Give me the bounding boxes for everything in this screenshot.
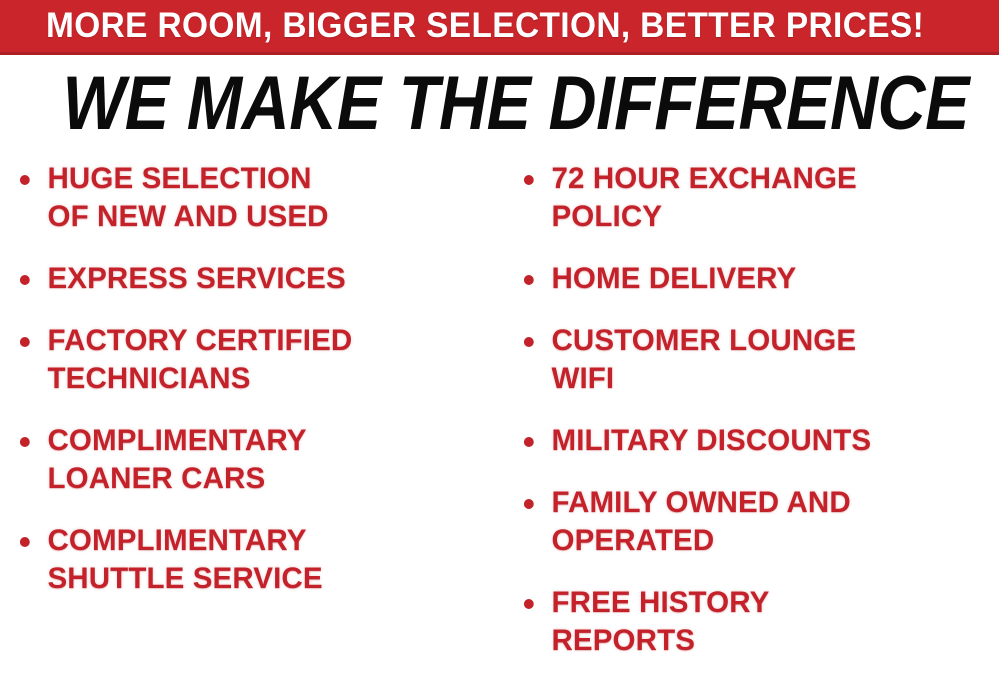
feature-label: 72 HOUR EXCHANGE POLICY (551, 160, 991, 236)
feature-label: COMPLIMENTARY SHUTTLE SERVICE (47, 522, 492, 598)
feature-item: COMPLIMENTARY LOANER CARS (14, 422, 493, 498)
features-section: HUGE SELECTION OF NEW AND USED EXPRESS S… (0, 160, 999, 692)
promo-strip: MORE ROOM, BIGGER SELECTION, BETTER PRIC… (0, 0, 999, 55)
feature-label: HOME DELIVERY (551, 260, 991, 298)
bullet-dot-icon (524, 175, 534, 185)
feature-item: MILITARY DISCOUNTS (518, 422, 992, 460)
feature-label: FAMILY OWNED AND OPERATED (551, 484, 991, 560)
feature-label: MILITARY DISCOUNTS (551, 422, 991, 460)
bullet-dot-icon (524, 437, 534, 447)
promo-strip-text: MORE ROOM, BIGGER SELECTION, BETTER PRIC… (46, 0, 924, 52)
feature-item: HOME DELIVERY (518, 260, 992, 298)
feature-label: COMPLIMENTARY LOANER CARS (47, 422, 492, 498)
feature-item: HUGE SELECTION OF NEW AND USED (14, 160, 493, 236)
feature-label: FREE HISTORY REPORTS (551, 584, 991, 660)
feature-label: FACTORY CERTIFIED TECHNICIANS (47, 322, 492, 398)
dealership-promo-banner: MORE ROOM, BIGGER SELECTION, BETTER PRIC… (0, 0, 999, 692)
bullet-dot-icon (20, 437, 30, 447)
feature-item: 72 HOUR EXCHANGE POLICY (518, 160, 992, 236)
bullet-dot-icon (524, 337, 534, 347)
feature-item: EXPRESS SERVICES (14, 260, 493, 298)
feature-label: HUGE SELECTION OF NEW AND USED (47, 160, 492, 236)
feature-item: COMPLIMENTARY SHUTTLE SERVICE (14, 522, 493, 598)
bullet-dot-icon (524, 275, 534, 285)
bullet-dot-icon (20, 337, 30, 347)
page-title: WE MAKE THE DIFFERENCE (62, 64, 936, 144)
features-column-left: HUGE SELECTION OF NEW AND USED EXPRESS S… (14, 160, 500, 598)
bullet-dot-icon (524, 599, 534, 609)
feature-item: FREE HISTORY REPORTS (518, 584, 992, 660)
feature-item: FACTORY CERTIFIED TECHNICIANS (14, 322, 493, 398)
bullet-dot-icon (524, 499, 534, 509)
feature-label: EXPRESS SERVICES (47, 260, 492, 298)
bullet-dot-icon (20, 275, 30, 285)
bullet-dot-icon (20, 537, 30, 547)
feature-item: FAMILY OWNED AND OPERATED (518, 484, 992, 560)
feature-item: CUSTOMER LOUNGE WIFI (518, 322, 992, 398)
feature-label: CUSTOMER LOUNGE WIFI (551, 322, 991, 398)
bullet-dot-icon (20, 175, 30, 185)
features-column-right: 72 HOUR EXCHANGE POLICY HOME DELIVERY CU… (518, 160, 999, 660)
